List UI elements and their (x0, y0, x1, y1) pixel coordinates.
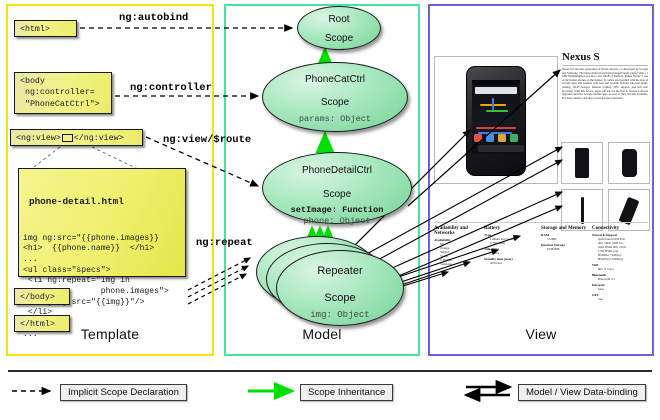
label-ng-repeat: ng:repeat (196, 237, 253, 249)
spec-value: (1500 mAh) (484, 241, 536, 245)
legend-item-implicit-scope-declaration: Implicit Scope Declaration (60, 384, 187, 401)
scope-property-img: img: Object (277, 304, 403, 320)
view-specs-table: Availability and Networks Availability M… (434, 226, 648, 336)
phone-nav-buttons (478, 145, 524, 152)
diagram-canvas: Nexus S Nexus S is the next generation o… (0, 0, 660, 420)
ngview-close-tag: </ng:view> (74, 134, 124, 143)
spec-value: 6 hours (484, 251, 536, 255)
scope-property-phone: phone: Object (263, 216, 411, 227)
spec-value: false (592, 287, 648, 291)
legend-divider (8, 370, 652, 372)
thumb-phone-angled (619, 197, 640, 226)
specs-divider (434, 222, 648, 223)
scope-title-line1: Repeater (277, 251, 403, 278)
phone-screen (472, 80, 520, 154)
scope-title-line1: PhoneCatCtrl (263, 63, 407, 86)
ngview-placeholder-icon (62, 134, 73, 142)
phone-statusbar (472, 80, 520, 85)
scope-title-line2: Scope (263, 86, 407, 109)
spec-column-availability: Availability and Networks Availability M… (434, 226, 476, 266)
thumbnail-back[interactable] (608, 142, 650, 184)
legend-item-model-view-databinding: Model / View Data-binding (518, 384, 646, 401)
spec-value: Bluetooth 2.1 (592, 277, 648, 281)
scope-root[interactable]: Root Scope (297, 6, 381, 50)
thumbnail-angled[interactable] (608, 189, 650, 231)
spec-value: 802.11 b/g/n (592, 267, 648, 271)
app-icon-1 (474, 134, 482, 142)
scope-repeater[interactable]: Repeater Scope img: Object (276, 250, 404, 326)
scope-property-setimage: setImage: Function (263, 200, 411, 216)
code-file-name: phone-detail.html (19, 192, 185, 211)
scope-phonedetailctrl[interactable]: PhoneDetailCtrl Scope setImage: Function… (262, 152, 412, 224)
wallpaper-line-3 (492, 98, 494, 110)
scope-title-line1: PhoneDetailCtrl (263, 153, 411, 177)
spec-value: 16384MB (541, 247, 589, 251)
spec-header: Connectivity (592, 226, 648, 231)
app-icon-4 (510, 134, 518, 142)
scope-title-line2: Scope (298, 26, 380, 45)
scope-title-line2: Scope (263, 177, 411, 201)
app-icon-2 (486, 134, 494, 142)
scope-title-line2: Scope (277, 278, 403, 305)
view-product-title: Nexus S (562, 51, 600, 63)
view-rendered-page: Nexus S Nexus S is the next generation o… (434, 14, 648, 334)
code-phone-detail-template[interactable]: phone-detail.html img ng:src="{{phone.im… (18, 168, 186, 277)
label-ng-controller: ng:controller (130, 82, 212, 94)
spec-value: 428 hours (484, 261, 536, 265)
thumb-phone-front (575, 148, 589, 178)
spec-column-battery: Battery Type Lithium Ion (Li-Ion) (1500 … (484, 226, 536, 265)
spec-header: Battery (484, 226, 536, 231)
phone-dock (474, 134, 518, 145)
view-product-description: Nexus S is the next generation of Nexus … (562, 68, 648, 100)
code-body-close[interactable]: </body> (14, 288, 70, 305)
spec-value: HSUPA (5.76Mbps) (592, 257, 648, 261)
spec-value: true (592, 297, 648, 301)
spec-column-connectivity: Connectivity Network Support Quad band G… (592, 226, 648, 301)
label-ng-autobind: ng:autobind (119, 12, 188, 24)
nexus-s-illustration (466, 66, 526, 176)
thumbnail-front[interactable] (561, 142, 603, 184)
scope-property: params: Object (263, 108, 407, 125)
code-body-open[interactable]: <body ng:controller= "PhoneCatCtrl"> (14, 72, 112, 114)
ngview-open-tag: <ng:view> (16, 134, 61, 143)
spec-value: 512MB (541, 237, 589, 241)
legend-item-scope-inheritance: Scope Inheritance (300, 384, 393, 401)
phone-hero-image (434, 56, 558, 184)
spec-header: Availability and Networks (434, 226, 476, 236)
phone-searchbar (475, 87, 517, 94)
thumb-phone-back (622, 149, 637, 177)
label-ng-view-route: ng:view/$route (163, 134, 251, 146)
thumb-phone-side (581, 197, 584, 224)
thumbnail-side[interactable] (561, 189, 603, 231)
wallpaper-line-4 (476, 127, 516, 129)
title-divider (562, 65, 648, 66)
scope-phonecatctrl[interactable]: PhoneCatCtrl Scope params: Object (262, 62, 408, 132)
code-html-open[interactable]: <html> (14, 20, 77, 37)
spec-value: Vodafone (434, 262, 476, 266)
spec-column-storage: Storage and Memory RAM 512MB Internal St… (541, 226, 589, 251)
wallpaper-line-2 (486, 110, 508, 112)
code-ngview-tag[interactable]: <ng:view></ng:view> (10, 129, 143, 146)
app-icon-3 (498, 134, 506, 142)
scope-title-line1: Root (298, 7, 380, 26)
spec-header: Storage and Memory (541, 226, 589, 231)
